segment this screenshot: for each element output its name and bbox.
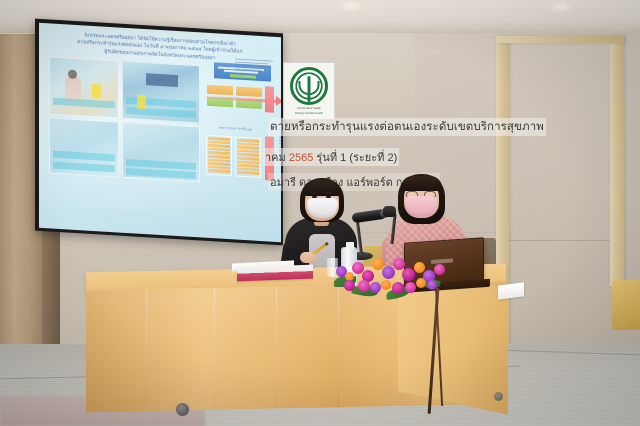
gold-chair-right	[612, 280, 640, 330]
left-presenter-fringe	[303, 180, 341, 196]
flower	[416, 278, 426, 288]
slide-photo-bottom-left	[49, 117, 119, 177]
flower-arrangement	[332, 252, 450, 300]
slide-photo-row	[53, 98, 116, 109]
slide-text-block-top	[235, 58, 273, 73]
ceiling-spotlight	[548, 3, 574, 12]
flower	[392, 282, 404, 294]
flower	[382, 266, 395, 279]
document-folder	[237, 265, 313, 282]
flower	[434, 264, 445, 275]
flower	[427, 280, 437, 290]
slide-table-right	[235, 136, 261, 177]
wall-seam	[509, 240, 610, 241]
banner-batch: รุ่นที่ 1 (ระยะที่ 2)	[316, 152, 397, 164]
banner-year: 2565	[289, 152, 313, 164]
wall-header-trim	[496, 36, 624, 43]
caduceus-icon	[290, 67, 328, 105]
ceiling-spotlight	[338, 2, 364, 11]
slide-photo-accent	[92, 83, 101, 98]
banner-month: าคม	[265, 152, 286, 164]
flower	[405, 282, 416, 293]
slide-photo-top-left	[49, 56, 119, 118]
slide-photo-bottom-right	[122, 122, 200, 183]
slide-photo-screen	[146, 73, 178, 87]
slide-photo-row	[53, 151, 116, 162]
flower	[381, 280, 391, 290]
flower	[402, 268, 415, 281]
left-presenter-eyebrow	[325, 192, 332, 194]
microphone-icon-2	[383, 206, 396, 217]
flower	[344, 280, 355, 291]
flower	[393, 258, 405, 270]
slide-table-left	[206, 135, 232, 176]
ministry-of-public-health-logo: กระทรวงสาธารณสุข Ministry of Public Heal…	[283, 62, 335, 120]
right-presenter-face-mask	[405, 196, 437, 217]
slide-photo-top-right	[122, 61, 200, 124]
banner-line-1: ตายหรือกระทำรุนแรงต่อตนเองระดับเขตบริการ…	[268, 118, 546, 136]
table-caster-wheel	[176, 403, 189, 416]
table-caster-wheel	[494, 392, 503, 401]
flower	[370, 282, 381, 293]
projection-screen: จังหวัดพระนครศรีอยุธยา ได้จัดให้ความรู้เ…	[39, 23, 281, 242]
slide-photo-row	[53, 162, 116, 173]
banner-line-2: าคม 2565 รุ่นที่ 1 (ระยะที่ 2)	[263, 148, 399, 166]
slide-photo-accent	[137, 95, 146, 110]
logo-caption-en: Ministry of Public Health	[295, 112, 323, 115]
left-presenter-eyebrow	[311, 192, 318, 194]
wall-pillar	[610, 36, 624, 286]
logo-caption-th: กระทรวงสาธารณสุข	[297, 107, 320, 110]
slide-block-orange	[236, 87, 262, 98]
slide-block-orange	[207, 85, 233, 96]
right-presenter-fringe	[401, 176, 442, 191]
conference-room-photo: จังหวัดพระนครศรีอยุธยา ได้จัดให้ความรู้เ…	[0, 0, 640, 426]
slide-photo-row	[126, 168, 196, 179]
slide-arrow-head	[276, 96, 281, 106]
flower	[358, 280, 370, 292]
